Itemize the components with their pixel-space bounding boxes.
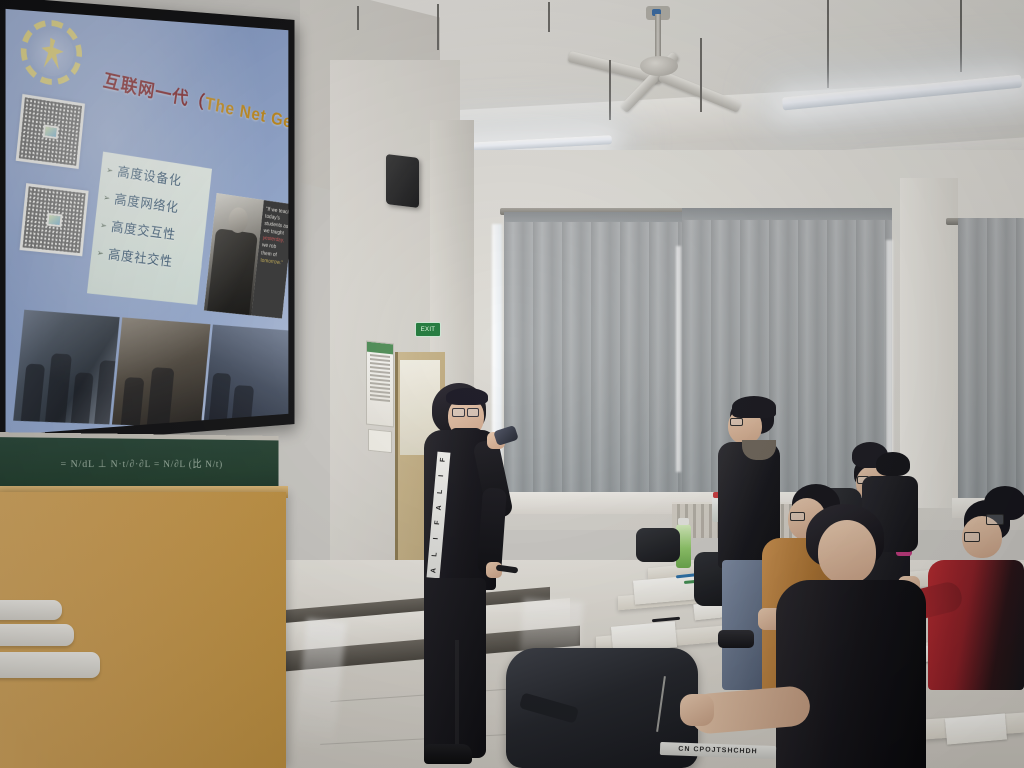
standing-student-hair-top [732,396,776,418]
exit-sign-label: EXIT [421,327,436,333]
step [0,652,100,678]
step [0,624,74,646]
window-light-gap-mid [676,246,681,472]
student-glasses [964,532,980,542]
wall-switch-panel[interactable] [368,429,392,454]
fan-hub [640,56,678,76]
student-resting-hand [680,694,714,726]
pendant-rod-5 [827,0,829,88]
brand-letter: I [433,537,440,540]
bag-under-desk [636,528,680,562]
student-glasses [986,514,1004,525]
brand-letter: L [431,552,438,557]
paper-sheet [945,713,1007,744]
student-jacket-red [928,560,1024,690]
standing-student-shoe [718,630,754,648]
brand-letter: A [435,504,442,510]
projection-screen: 互联网一代（The Net Generation） ➢ 高度设备化 ➢ 高度网络… [0,0,295,448]
backpack-label-text: CN CPOJTSHCHDH [678,746,758,756]
presenter-fringe [446,388,488,405]
exit-sign: EXIT [415,322,441,337]
projector-glow [6,9,289,435]
pendant-rod-7 [357,6,359,30]
brand-letter: F [440,457,447,462]
presentation-slide: 互联网一代（The Net Generation） ➢ 高度设备化 ➢ 高度网络… [6,9,289,435]
pendant-rod-1 [437,4,439,50]
window-curtain-left [504,222,682,500]
wall-speaker [386,154,419,208]
pendant-rod-2 [548,2,550,32]
pendant-rod-4 [700,38,702,112]
presenter-glasses-right [467,408,479,417]
window-curtain-right [958,218,1024,502]
brand-letter: I [438,474,445,477]
notice-header [367,342,393,355]
standing-student-glasses [730,418,743,426]
notice-line [370,398,390,402]
blackboard-chalk-text: = N/dL ⊥ N·t/∂·∂L = N/∂L (比 N/t) [60,455,222,471]
presenter-leg-seam [455,640,459,752]
pendant-rod-3 [609,60,611,120]
student-head [818,520,876,584]
brand-letter: L [437,489,444,494]
pendant-rod-6 [960,0,962,72]
bottle-cap [678,518,689,525]
brand-letter: A [430,567,437,573]
fan-rod [655,14,661,58]
window-light-gap-right [886,240,893,474]
wall-notice-board [366,341,394,428]
classroom-photo: EXIT [0,0,1024,768]
student-hair [876,452,910,476]
student-foreground-torso [776,580,926,768]
brand-letter: F [434,520,441,525]
presenter-shoe [424,744,472,764]
presenter-glasses-left [452,408,465,417]
step [0,600,62,620]
lectern-steps [0,600,114,768]
student-glasses [790,512,805,521]
